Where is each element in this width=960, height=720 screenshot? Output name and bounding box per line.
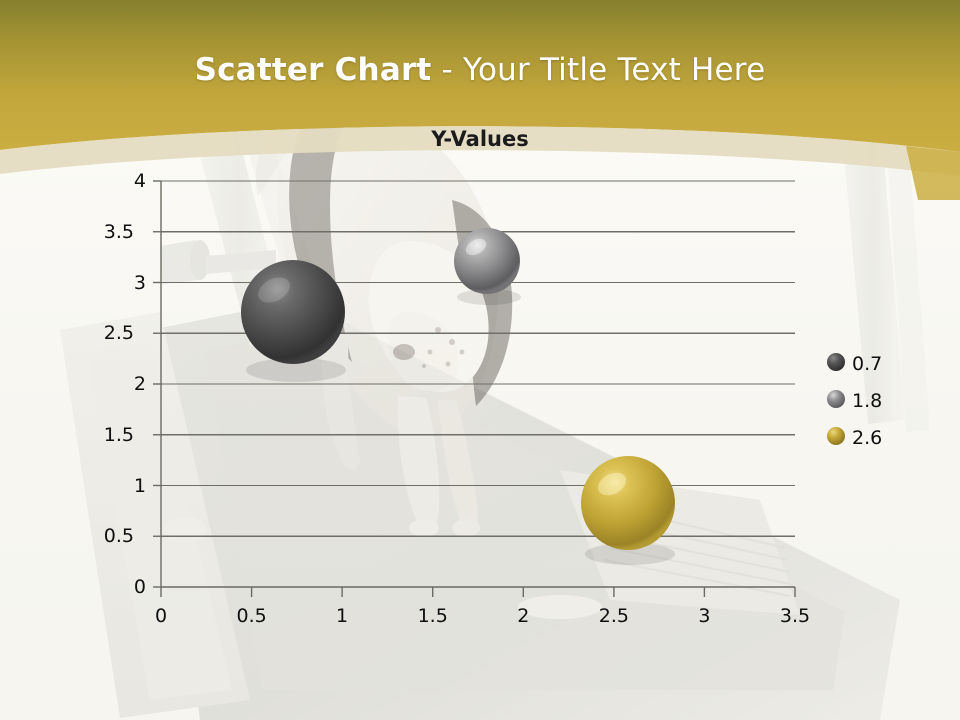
legend-marker-icon	[826, 430, 843, 447]
y-tick-label: 0	[100, 576, 146, 598]
legend-item-label: 1.8	[852, 392, 882, 411]
y-tick-label: 3.5	[88, 221, 134, 243]
y-tick-label: 1	[100, 475, 146, 497]
x-tick-label: 1.5	[403, 605, 463, 627]
x-tick-label: 2.5	[584, 605, 644, 627]
legend-item[interactable]: 0.7	[826, 346, 882, 383]
x-tick-label: 0.5	[222, 605, 282, 627]
legend-item-label: 0.7	[852, 355, 882, 374]
legend-marker-icon	[826, 356, 843, 373]
data-point-group	[241, 228, 675, 565]
y-tick-label: 3	[100, 272, 146, 294]
y-tick-label: 0.5	[88, 525, 134, 547]
x-tick-label: 2	[493, 605, 553, 627]
y-tick-label: 2	[100, 373, 146, 395]
x-tick-label: 0	[131, 605, 191, 627]
legend-item[interactable]: 2.6	[826, 420, 882, 457]
legend-item-label: 2.6	[852, 429, 882, 448]
y-tick-label: 4	[100, 170, 146, 192]
legend: 0.7 1.8 2.6	[826, 346, 882, 457]
x-tick-label: 3.5	[765, 605, 825, 627]
slide-canvas: Scatter Chart - Your Title Text Here Y-V…	[0, 0, 960, 720]
x-tick-label: 3	[674, 605, 734, 627]
y-tick-label: 1.5	[88, 424, 134, 446]
legend-item[interactable]: 1.8	[826, 383, 882, 420]
y-tick-label: 2.5	[88, 322, 134, 344]
x-tick-label: 1	[312, 605, 372, 627]
legend-marker-icon	[826, 393, 843, 410]
